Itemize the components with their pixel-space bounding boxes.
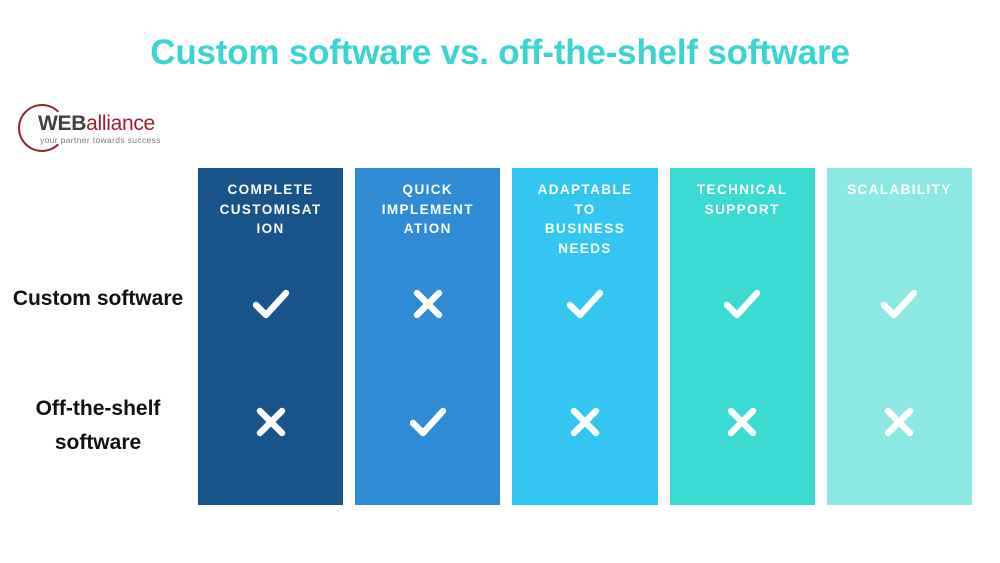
- logo-tagline: your partner towards success: [40, 135, 161, 145]
- column-header: QUICK IMPLEMENT ATION: [378, 180, 478, 239]
- comparison-table: COMPLETE CUSTOMISAT ION QUICK IMPLEMENT …: [198, 168, 972, 505]
- table-column-adaptable-to-business-needs: ADAPTABLE TO BUSINESS NEEDS: [512, 168, 657, 505]
- column-header: TECHNICAL SUPPORT: [693, 180, 792, 219]
- column-header: SCALABILITY: [843, 180, 956, 200]
- logo-wordmark: WEBalliance: [38, 113, 155, 134]
- column-header: ADAPTABLE TO BUSINESS NEEDS: [534, 180, 637, 258]
- check-icon: [512, 285, 657, 319]
- table-column-quick-implementation: QUICK IMPLEMENT ATION: [355, 168, 500, 505]
- page-title: Custom software vs. off-the-shelf softwa…: [0, 33, 1000, 73]
- cross-icon: [670, 403, 815, 437]
- check-icon: [355, 403, 500, 437]
- check-icon: [827, 285, 972, 319]
- cross-icon: [198, 403, 343, 437]
- check-icon: [670, 285, 815, 319]
- table-column-technical-support: TECHNICAL SUPPORT: [670, 168, 815, 505]
- row-label-custom-software: Custom software: [8, 282, 188, 316]
- logo-word-secondary: alliance: [86, 112, 155, 135]
- table-column-scalability: SCALABILITY: [827, 168, 972, 505]
- check-icon: [198, 285, 343, 319]
- logo: WEBalliance your partner towards success: [18, 104, 168, 152]
- row-label-off-the-shelf-software: Off-the-shelf software: [8, 392, 188, 459]
- table-column-complete-customisation: COMPLETE CUSTOMISAT ION: [198, 168, 343, 505]
- cross-icon: [355, 285, 500, 319]
- column-header: COMPLETE CUSTOMISAT ION: [216, 180, 326, 239]
- cross-icon: [827, 403, 972, 437]
- cross-icon: [512, 403, 657, 437]
- logo-word-primary: WEB: [38, 112, 86, 135]
